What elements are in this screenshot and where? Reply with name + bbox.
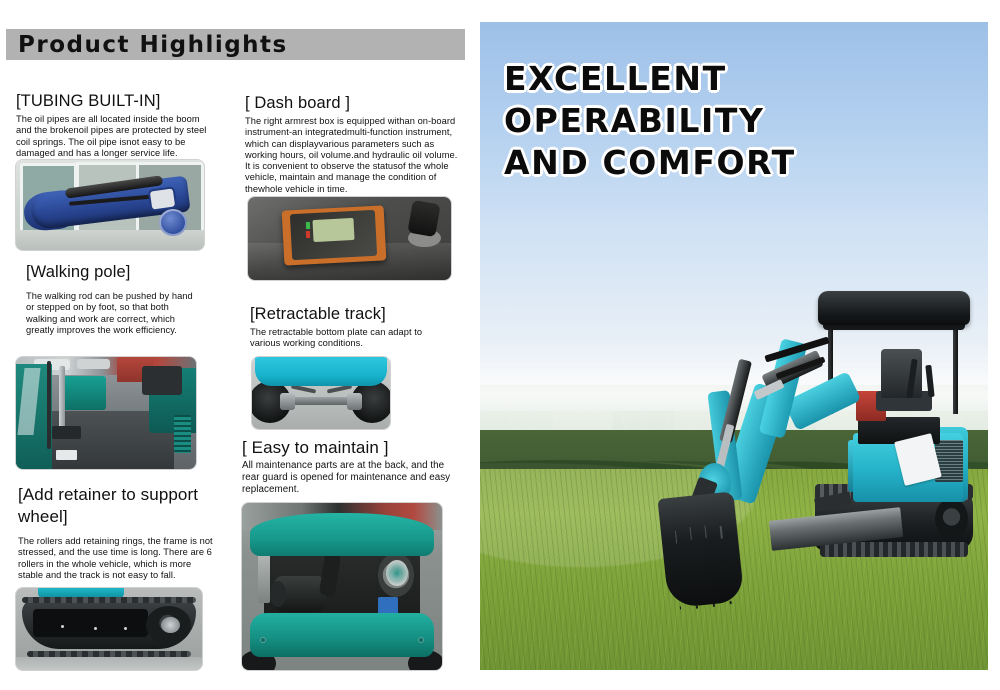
excavator-canopy <box>818 291 970 325</box>
feature-image-retractable-track <box>252 357 390 429</box>
feature-title-dash-board: [ Dash board ] <box>245 94 460 113</box>
left-content-pane: Product Highlights [TUBING BUILT-IN] The… <box>0 0 470 690</box>
feature-body-retractable-track: The retractable bottom plate can adapt t… <box>250 327 450 350</box>
feature-image-add-retainer <box>16 588 202 670</box>
excavator-canopy-post-right <box>953 323 958 414</box>
excavator-seat <box>881 349 922 398</box>
feature-title-easy-to-maintain: [ Easy to maintain ] <box>242 438 457 457</box>
feature-image-easy-to-maintain <box>242 503 442 670</box>
hero-title: EXCELLENT OPERABILITY AND COMFORT <box>504 58 974 184</box>
feature-image-dash-board <box>248 197 451 280</box>
feature-image-tubing <box>16 160 204 250</box>
feature-easy-to-maintain: [ Easy to maintain ] All maintenance par… <box>242 438 457 496</box>
feature-walking-pole: [Walking pole] The walking rod can be pu… <box>26 263 201 336</box>
hero-banner: EXCELLENT OPERABILITY AND COMFORT <box>480 22 988 670</box>
feature-title-retractable-track: [Retractable track] <box>250 305 450 324</box>
feature-tubing-built-in: [TUBING BUILT-IN] The oil pipes are all … <box>16 92 216 159</box>
feature-dash-board: [ Dash board ] The right armrest box is … <box>245 94 460 195</box>
brochure-page: Product Highlights [TUBING BUILT-IN] The… <box>0 0 1000 690</box>
hero-title-line-1: EXCELLENT OPERABILITY <box>504 58 974 142</box>
hero-title-line-2: AND COMFORT <box>504 142 974 184</box>
page-title: Product Highlights <box>18 30 458 60</box>
feature-image-walking-pole <box>16 357 196 469</box>
feature-title-walking-pole: [Walking pole] <box>26 263 201 282</box>
excavator-track-lugs-bottom <box>820 542 967 556</box>
feature-body-tubing: The oil pipes are all located inside the… <box>16 114 216 159</box>
excavator-bucket <box>657 491 744 609</box>
feature-body-walking-pole: The walking rod can be pushed by hand or… <box>26 291 201 336</box>
excavator-sprocket <box>935 498 968 540</box>
feature-title-tubing: [TUBING BUILT-IN] <box>16 92 216 111</box>
feature-add-retainer: [Add retainer to support wheel] The roll… <box>18 484 213 581</box>
feature-body-add-retainer: The rollers add retaining rings, the fra… <box>18 536 213 581</box>
feature-retractable-track: [Retractable track] The retractable bott… <box>250 305 450 350</box>
feature-title-add-retainer: [Add retainer to support wheel] <box>18 484 213 528</box>
feature-body-dash-board: The right armrest box is equipped withan… <box>245 116 460 195</box>
feature-body-easy-to-maintain: All maintenance parts are at the back, a… <box>242 460 457 496</box>
